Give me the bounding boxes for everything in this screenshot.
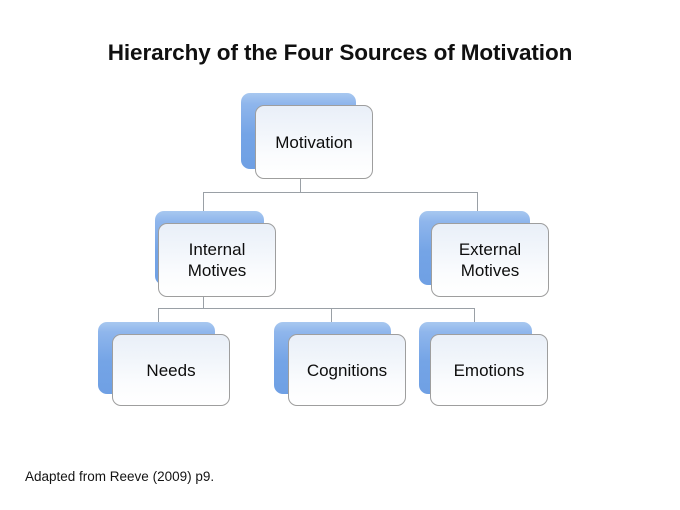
node-internal-motives-card[interactable]: Internal Motives (158, 223, 276, 297)
connector-tier2-bus (203, 192, 478, 193)
node-emotions-label: Emotions (454, 360, 525, 381)
slide-canvas: Hierarchy of the Four Sources of Motivat… (0, 0, 680, 510)
page-title: Hierarchy of the Four Sources of Motivat… (0, 40, 680, 66)
connector-tier3-bus (158, 308, 475, 309)
node-internal-motives[interactable]: Internal Motives (155, 211, 276, 297)
node-needs-label: Needs (146, 360, 195, 381)
node-external-motives[interactable]: External Motives (419, 211, 549, 297)
node-needs-card[interactable]: Needs (112, 334, 230, 406)
source-footnote: Adapted from Reeve (2009) p9. (25, 469, 214, 484)
node-motivation[interactable]: Motivation (241, 93, 373, 179)
node-emotions-card[interactable]: Emotions (430, 334, 548, 406)
node-external-motives-card[interactable]: External Motives (431, 223, 549, 297)
node-cognitions-label: Cognitions (307, 360, 387, 381)
node-cognitions-card[interactable]: Cognitions (288, 334, 406, 406)
node-emotions[interactable]: Emotions (419, 322, 548, 406)
node-internal-motives-label: Internal Motives (188, 239, 247, 281)
node-external-motives-label: External Motives (459, 239, 521, 281)
node-motivation-card[interactable]: Motivation (255, 105, 373, 179)
node-motivation-label: Motivation (275, 132, 352, 153)
node-cognitions[interactable]: Cognitions (274, 322, 406, 406)
connector-motivation-stem (300, 178, 301, 193)
connector-to-internal-motives (203, 192, 204, 212)
node-needs[interactable]: Needs (98, 322, 230, 406)
connector-to-external-motives (477, 192, 478, 212)
